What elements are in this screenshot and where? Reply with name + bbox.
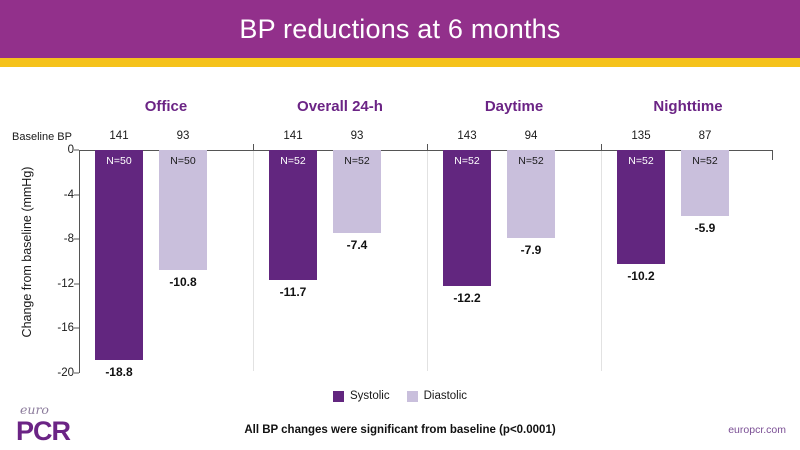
bar-value-label: -5.9 bbox=[675, 221, 735, 235]
y-axis-tick-label: -12 bbox=[44, 278, 74, 290]
y-axis-tick-label: -16 bbox=[44, 322, 74, 334]
group-separator bbox=[601, 151, 602, 371]
bar-value-label: -10.8 bbox=[153, 275, 213, 289]
x-axis-tick-mark bbox=[427, 144, 428, 151]
europcr-logo: euro PCR bbox=[16, 404, 96, 446]
bar-systolic: N=50 bbox=[95, 150, 143, 360]
y-axis-tick-mark bbox=[74, 194, 79, 195]
legend-item: Diastolic bbox=[407, 390, 467, 402]
logo-pcr-text: PCR bbox=[16, 418, 96, 445]
logo-euro-text: euro bbox=[16, 404, 96, 417]
bar-diastolic: N=52 bbox=[333, 150, 381, 233]
baseline-bp-value: 93 bbox=[177, 130, 190, 142]
y-axis-tick-label: -20 bbox=[44, 367, 74, 379]
bar-value-label: -10.2 bbox=[611, 269, 671, 283]
baseline-bp-value: 143 bbox=[457, 130, 476, 142]
baseline-bp-value: 87 bbox=[699, 130, 712, 142]
y-axis-title: Change from baseline (mmHg) bbox=[20, 137, 38, 367]
bar-systolic: N=52 bbox=[443, 150, 491, 286]
header-bar: BP reductions at 6 months bbox=[0, 0, 800, 58]
baseline-bp-value: 135 bbox=[631, 130, 650, 142]
bar-group-title: Daytime bbox=[427, 98, 601, 115]
baseline-bp-value: 141 bbox=[283, 130, 302, 142]
bar-n-label: N=50 bbox=[95, 155, 143, 167]
bar-systolic: N=52 bbox=[269, 150, 317, 280]
bar-n-label: N=52 bbox=[681, 155, 729, 167]
x-axis-tick-mark bbox=[601, 144, 602, 151]
y-axis-tick-mark bbox=[74, 239, 79, 240]
bar-n-label: N=52 bbox=[333, 155, 381, 167]
bar-value-label: -7.4 bbox=[327, 238, 387, 252]
bar-chart: Change from baseline (mmHg) Baseline BP … bbox=[0, 67, 800, 387]
y-axis-tick-mark bbox=[74, 150, 79, 151]
bar-value-label: -7.9 bbox=[501, 243, 561, 257]
significance-note: All BP changes were significant from bas… bbox=[0, 424, 800, 436]
chart-legend: SystolicDiastolic bbox=[0, 390, 800, 402]
bar-diastolic: N=50 bbox=[159, 150, 207, 270]
group-separator bbox=[253, 151, 254, 371]
legend-label: Diastolic bbox=[424, 390, 467, 402]
y-axis-tick-mark bbox=[74, 283, 79, 284]
bar-value-label: -12.2 bbox=[437, 291, 497, 305]
bar-systolic: N=52 bbox=[617, 150, 665, 264]
bar-diastolic: N=52 bbox=[507, 150, 555, 238]
legend-swatch bbox=[407, 391, 418, 402]
site-url: europcr.com bbox=[728, 424, 786, 436]
bar-value-label: -11.7 bbox=[263, 285, 323, 299]
y-axis-tick-labels: 0-4-8-12-16-20 bbox=[40, 67, 74, 387]
baseline-bp-value: 93 bbox=[351, 130, 364, 142]
bar-diastolic: N=52 bbox=[681, 150, 729, 216]
page-title: BP reductions at 6 months bbox=[239, 14, 560, 45]
legend-swatch bbox=[333, 391, 344, 402]
bar-group-title: Nighttime bbox=[601, 98, 775, 115]
x-axis-tick-mark bbox=[253, 144, 254, 151]
group-separator bbox=[427, 151, 428, 371]
bar-n-label: N=52 bbox=[507, 155, 555, 167]
legend-label: Systolic bbox=[350, 390, 390, 402]
bar-n-label: N=52 bbox=[617, 155, 665, 167]
bar-n-label: N=50 bbox=[159, 155, 207, 167]
baseline-bp-value: 141 bbox=[109, 130, 128, 142]
y-axis-tick-mark bbox=[74, 328, 79, 329]
y-axis-tick-label: -8 bbox=[44, 233, 74, 245]
accent-bar bbox=[0, 58, 800, 67]
bar-n-label: N=52 bbox=[269, 155, 317, 167]
legend-item: Systolic bbox=[333, 390, 390, 402]
bar-group-title: Overall 24-h bbox=[253, 98, 427, 115]
y-axis-tick-mark bbox=[74, 373, 79, 374]
bar-group-title: Office bbox=[79, 98, 253, 115]
baseline-bp-value: 94 bbox=[525, 130, 538, 142]
y-axis-tick-label: -4 bbox=[44, 189, 74, 201]
bar-n-label: N=52 bbox=[443, 155, 491, 167]
y-axis-tick-label: 0 bbox=[44, 144, 74, 156]
bar-value-label: -18.8 bbox=[89, 365, 149, 379]
